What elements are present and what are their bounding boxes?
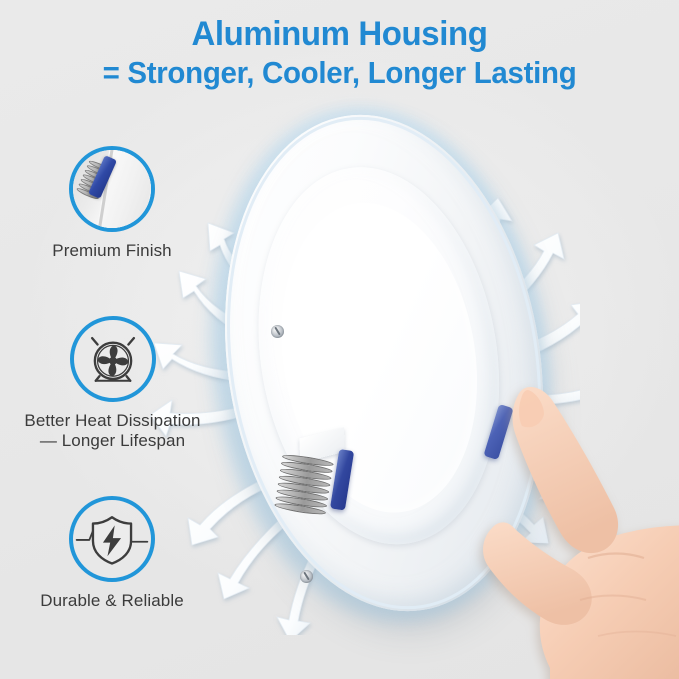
clip-blue-bar xyxy=(330,449,354,511)
infographic-canvas: Aluminum Housing = Stronger, Cooler, Lon… xyxy=(0,0,679,679)
shield-bolt-pulse-icon xyxy=(69,496,155,582)
feature-label: Durable & Reliable xyxy=(27,591,197,611)
spring-clip-left xyxy=(260,447,361,528)
clip-spring-coil xyxy=(274,453,332,518)
headline-line-2: = Stronger, Cooler, Longer Lasting xyxy=(17,54,662,92)
hand-touching-product xyxy=(438,368,679,679)
feature-premium-finish: Premium Finish xyxy=(27,146,197,261)
spring-clip-closeup-photo-icon xyxy=(69,146,155,232)
fixture-screw-bottom xyxy=(300,570,313,583)
cooling-fan-icon xyxy=(70,316,156,402)
feature-label: Premium Finish xyxy=(27,241,197,261)
feature-durable-reliable: Durable & Reliable xyxy=(27,496,197,611)
feature-heat-dissipation: Better Heat Dissipation — Longer Lifespa… xyxy=(5,316,220,451)
headline: Aluminum Housing = Stronger, Cooler, Lon… xyxy=(0,14,679,92)
headline-line-1: Aluminum Housing xyxy=(10,14,669,54)
feature-label: Better Heat Dissipation — Longer Lifespa… xyxy=(5,411,220,451)
fixture-screw-top xyxy=(271,325,284,338)
